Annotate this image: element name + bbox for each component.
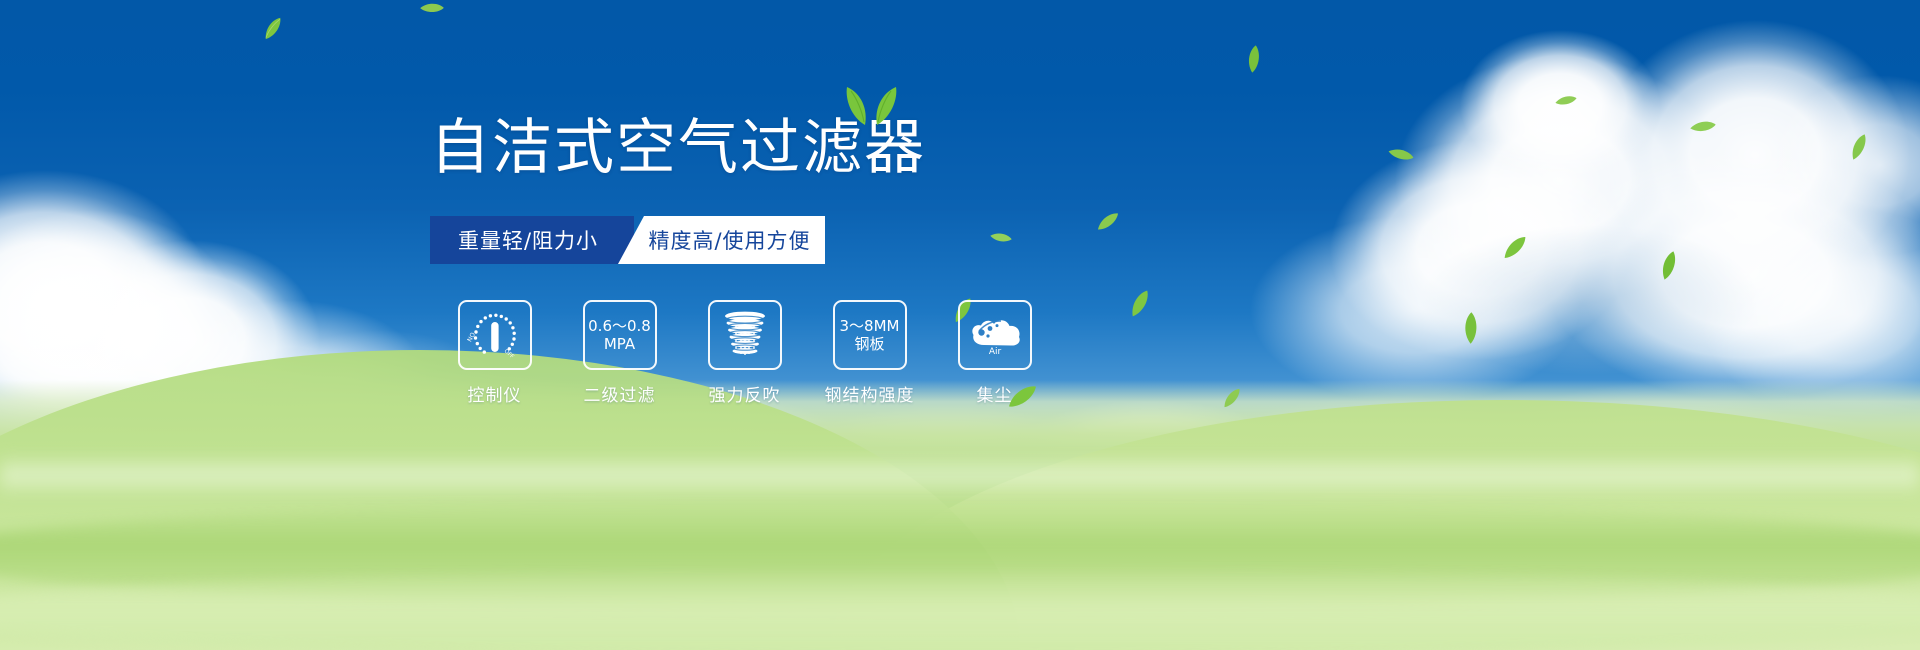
feature-item-steel[interactable]: 3～8MM 钢板 钢结构强度 — [807, 300, 932, 406]
dial-label-off: OFF — [502, 348, 514, 360]
badge-secondary[interactable]: 精度高/使用方便 — [618, 216, 825, 264]
feature-caption: 控制仪 — [468, 381, 522, 406]
feature-box-control: NO OFF — [458, 300, 532, 370]
air-label: Air — [988, 347, 1001, 355]
subtitle-badges: 重量轻/阻力小 精度高/使用方便 — [430, 216, 825, 264]
pressure-value-line2: MPA — [604, 335, 635, 353]
dust-cloud-icon: Air — [966, 311, 1024, 355]
title-leaves-icon — [841, 85, 903, 131]
grass-field — [0, 380, 1920, 650]
title-row: 自洁式空气过滤器 — [430, 112, 1130, 190]
filter-cartridge-icon — [719, 308, 771, 362]
feature-caption: 钢结构强度 — [825, 381, 915, 406]
feature-caption: 强力反吹 — [709, 381, 781, 406]
feature-box-pressure: 0.6～0.8 MPA — [583, 300, 657, 370]
feature-item-pressure[interactable]: 0.6～0.8 MPA 二级过滤 — [557, 300, 682, 406]
feature-box-blowback — [708, 300, 782, 370]
steel-value-line2: 钢板 — [854, 335, 884, 353]
feature-item-blowback[interactable]: 强力反吹 — [682, 300, 807, 406]
badge-primary-label: 重量轻/阻力小 — [458, 225, 598, 255]
feature-item-control[interactable]: NO OFF 控制仪 — [432, 300, 557, 406]
feature-list: NO OFF 控制仪 0.6～0.8 MPA 二级过滤 — [432, 300, 1130, 406]
banner-content: 自洁式空气过滤器 重量轻/阻力小 精度高/使用方便 — [430, 112, 1130, 406]
control-dial-icon: NO OFF — [465, 308, 525, 362]
steel-value-line1: 3～8MM — [840, 317, 900, 335]
badge-primary[interactable]: 重量轻/阻力小 — [430, 216, 634, 264]
badge-secondary-label: 精度高/使用方便 — [648, 225, 810, 255]
hero-banner: 自洁式空气过滤器 重量轻/阻力小 精度高/使用方便 — [0, 0, 1920, 650]
feature-caption: 二级过滤 — [584, 381, 656, 406]
feature-box-dust: Air — [958, 300, 1032, 370]
feature-box-steel: 3～8MM 钢板 — [833, 300, 907, 370]
pressure-value-line1: 0.6～0.8 — [588, 317, 651, 335]
feature-item-dust[interactable]: Air 集尘 — [932, 300, 1057, 406]
